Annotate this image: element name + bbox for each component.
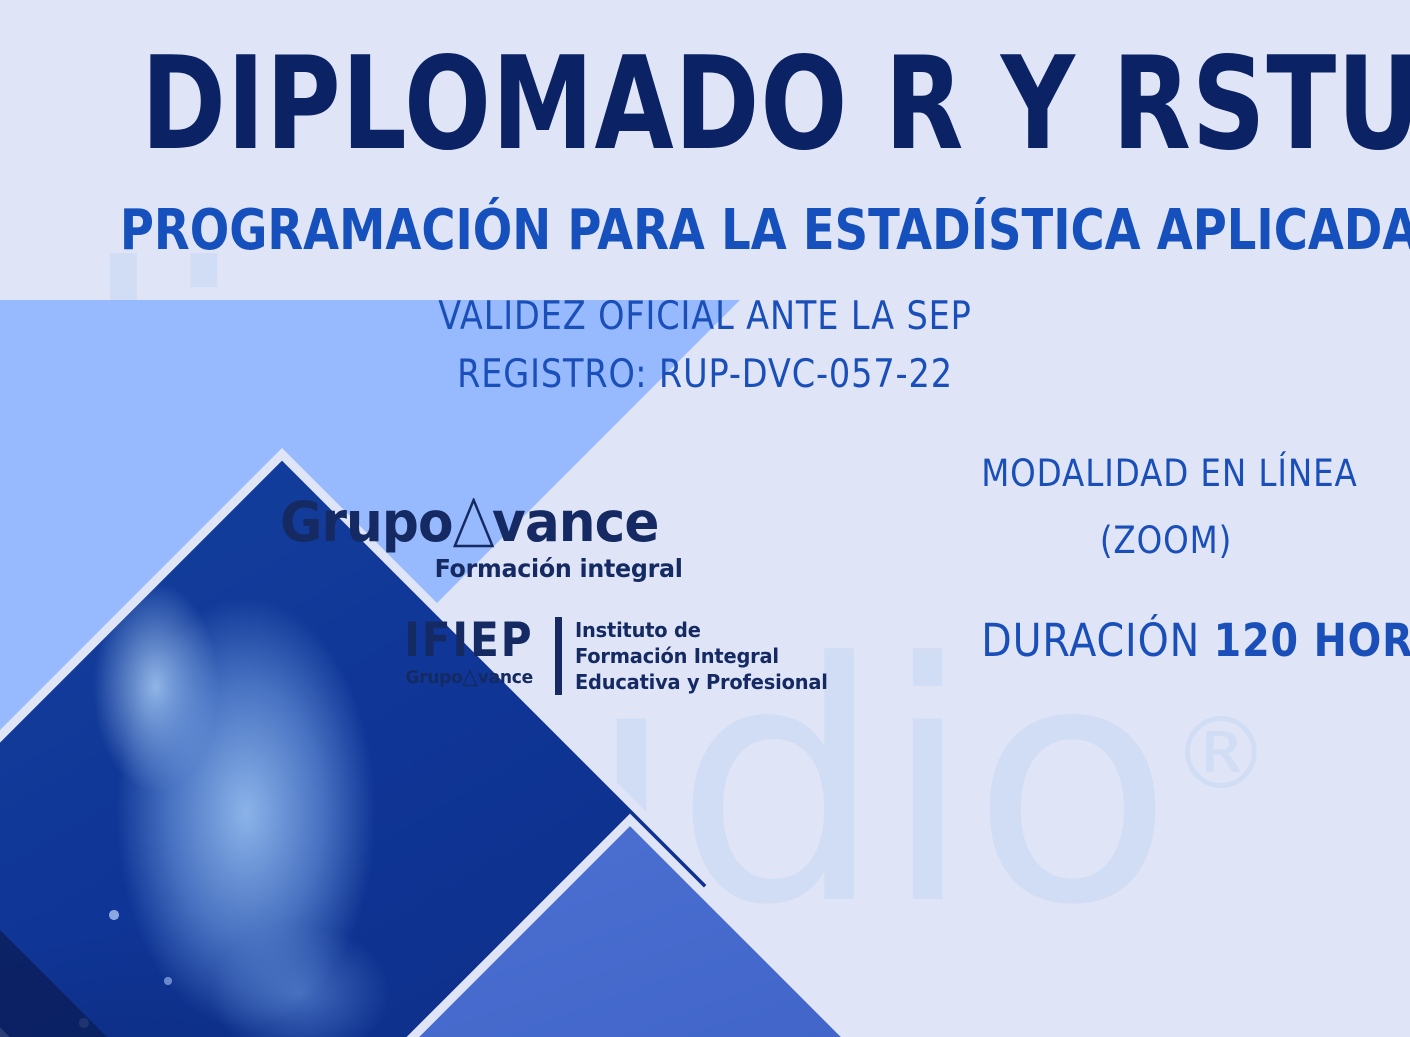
page-subtitle: PROGRAMACIÓN PARA LA ESTADÍSTICA APLICAD… [120, 203, 1290, 259]
logo-ifiep-left: IFIEP Grupo vance [397, 617, 555, 695]
logo-ifiep-sub-wordmark: Grupo vance [405, 669, 533, 687]
triangle-a-icon-small [462, 669, 477, 687]
logo-grupo-avance-wordmark: Grupo vance [280, 495, 658, 550]
logo-ifiep-description-line-3: Educativa y Profesional [575, 669, 828, 695]
validity-text: VALIDEZ OFICIAL ANTE LA SEP [99, 294, 1312, 339]
logo-grupo-avance-text-vance: vance [492, 495, 658, 550]
triangle-a-icon [453, 498, 494, 550]
logo-ifiep-description-line-2: Formación Integral [575, 643, 828, 669]
modality-text: MODALIDAD EN LÍNEA [981, 452, 1351, 495]
logo-ifiep-divider [555, 617, 562, 695]
course-info-block: MODALIDAD EN LÍNEA (ZOOM) DURACIÓN 120 H… [956, 452, 1376, 667]
poster-canvas: tudio® RStudio® DIPLOMADO R Y RSTUDIO PR… [0, 0, 1410, 1037]
logo-grupo-avance-text-grupo: Grupo [280, 495, 453, 550]
logo-ifiep-description-line-1: Instituto de [575, 617, 828, 643]
platform-text: (ZOOM) [981, 519, 1351, 562]
registry-text: REGISTRO: RUP-DVC-057-22 [99, 352, 1312, 397]
logo-ifiep-text-grupo: Grupo [405, 669, 462, 687]
logo-grupo-avance-tagline: Formación integral [300, 554, 682, 583]
duration-text: DURACIÓN 120 HORAS [981, 614, 1351, 667]
page-title: DIPLOMADO R Y RSTUDIO [141, 44, 1269, 166]
logo-ifiep: IFIEP Grupo vance Instituto de Formación… [397, 617, 835, 695]
logo-ifiep-acronym: IFIEP [404, 617, 533, 664]
logo-grupo-avance: Grupo vance Formación integral [280, 495, 683, 583]
logo-ifiep-description: Instituto de Formación Integral Educativ… [575, 617, 828, 695]
logo-ifiep-text-vance: vance [477, 669, 532, 687]
duration-value: 120 HORAS [1214, 614, 1410, 667]
duration-label: DURACIÓN [981, 614, 1200, 667]
